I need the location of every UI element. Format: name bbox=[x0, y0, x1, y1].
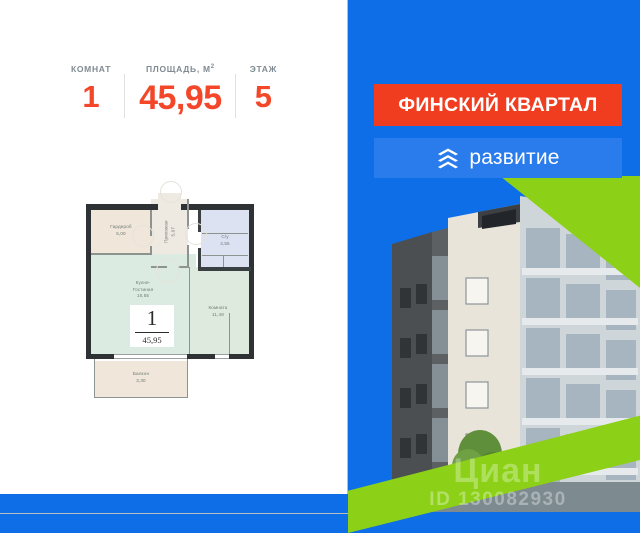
room-label-kitchen-living-area: 16,55 bbox=[116, 293, 170, 300]
badge-divider bbox=[135, 332, 169, 333]
floor-plan-drawing: Гардероб 5,00 Прихожая 5,07 С/у 4,55 Кух… bbox=[86, 193, 268, 401]
room-label-wardrobe: Гардероб 5,00 bbox=[96, 224, 146, 237]
advertisement-canvas: КОМНАТ 1 ПЛОЩАДЬ, м2 45,95 ЭТАЖ 5 bbox=[0, 0, 640, 533]
badge-total-area: 45,95 bbox=[142, 335, 161, 345]
room-label-balcony-name: Балкон bbox=[117, 371, 165, 378]
project-name-text: ФИНСКИЙ КВАРТАЛ bbox=[398, 94, 597, 117]
partition-kitchen-room bbox=[189, 267, 190, 354]
floor-plan: Гардероб 5,00 Прихожая 5,07 С/у 4,55 Кух… bbox=[86, 193, 268, 401]
apartment-summary-badge: 1 45,95 bbox=[130, 305, 174, 347]
bathroom-fixture-divider bbox=[223, 255, 224, 267]
stat-rooms-label: КОМНАТ bbox=[71, 64, 111, 74]
floorplan-panel: КОМНАТ 1 ПЛОЩАДЬ, м2 45,95 ЭТАЖ 5 bbox=[0, 0, 348, 514]
room-label-room-name: Комната bbox=[194, 305, 242, 312]
stat-area-value: 45,95 bbox=[139, 81, 222, 115]
partition-room-niche bbox=[229, 313, 230, 354]
window-living bbox=[150, 354, 187, 359]
stacked-chevrons-icon bbox=[436, 146, 460, 170]
wall-balcony-left bbox=[94, 359, 95, 398]
apartment-stats: КОМНАТ 1 ПЛОЩАДЬ, м2 45,95 ЭТАЖ 5 bbox=[0, 64, 348, 115]
stat-area: ПЛОЩАДЬ, м2 45,95 bbox=[125, 64, 236, 115]
room-label-hallway-area: 5,07 bbox=[170, 209, 177, 255]
room-label-hallway: Прихожая 5,07 bbox=[163, 209, 176, 255]
partition-bathroom-bottom bbox=[198, 267, 251, 271]
wall-exterior-bottom-left bbox=[86, 354, 114, 359]
partition-hallway-right-lower bbox=[187, 245, 189, 267]
room-label-balcony-area: 3,30 bbox=[117, 378, 165, 385]
badge-room-count: 1 bbox=[147, 308, 158, 329]
bathroom-fixture-line-2 bbox=[202, 255, 248, 256]
room-label-bathroom-area: 4,55 bbox=[204, 241, 246, 248]
partition-wardrobe-hallway-lower bbox=[150, 246, 152, 255]
wall-exterior-left bbox=[86, 204, 91, 359]
area-unit-superscript: 2 bbox=[211, 64, 215, 70]
wall-exterior-bottom-mid bbox=[187, 354, 215, 359]
stat-area-label: ПЛОЩАДЬ, м2 bbox=[139, 64, 222, 74]
wall-exterior-bottom-right bbox=[229, 354, 254, 359]
room-label-bathroom: С/у 4,55 bbox=[204, 234, 246, 247]
door-arc-entry bbox=[160, 181, 182, 203]
wall-balcony-bottom bbox=[94, 397, 188, 398]
panel-bottom-strip bbox=[0, 494, 348, 513]
stat-floor-label: ЭТАЖ bbox=[250, 64, 277, 74]
room-label-bathroom-name: С/у bbox=[204, 234, 246, 241]
room-label-kitchen-living-name2: Гостиная bbox=[116, 287, 170, 294]
developer-name: развитие bbox=[469, 146, 559, 170]
window-room bbox=[215, 354, 229, 359]
window-kitchen bbox=[114, 354, 150, 359]
room-label-hallway-name: Прихожая bbox=[163, 209, 170, 255]
room-label-balcony: Балкон 3,30 bbox=[117, 371, 165, 384]
stat-rooms: КОМНАТ 1 bbox=[57, 64, 125, 112]
wall-exterior-top-right bbox=[181, 204, 254, 210]
wall-exterior-right bbox=[249, 204, 254, 359]
room-label-kitchen-living: Кухня- Гостиная 16,55 bbox=[116, 280, 170, 300]
room-label-wardrobe-name: Гардероб bbox=[96, 224, 146, 231]
room-label-kitchen-living-name: Кухня- bbox=[116, 280, 170, 287]
partition-wardrobe-bottom bbox=[91, 253, 151, 255]
developer-logo-bar: развитие bbox=[374, 138, 622, 178]
stat-floor-value: 5 bbox=[250, 81, 277, 112]
room-label-room: Комната 11,48 bbox=[194, 305, 242, 318]
stat-rooms-value: 1 bbox=[71, 81, 111, 112]
project-name-banner: ФИНСКИЙ КВАРТАЛ bbox=[374, 84, 622, 126]
wall-balcony-right bbox=[187, 359, 188, 398]
stat-floor: ЭТАЖ 5 bbox=[236, 64, 291, 112]
wall-exterior-top-left bbox=[86, 204, 158, 210]
branding-panel: Циан ID 130082930 ФИНСКИЙ КВАРТАЛ развит… bbox=[348, 0, 640, 533]
room-label-wardrobe-area: 5,00 bbox=[96, 231, 146, 238]
room-label-room-area: 11,48 bbox=[194, 312, 242, 319]
